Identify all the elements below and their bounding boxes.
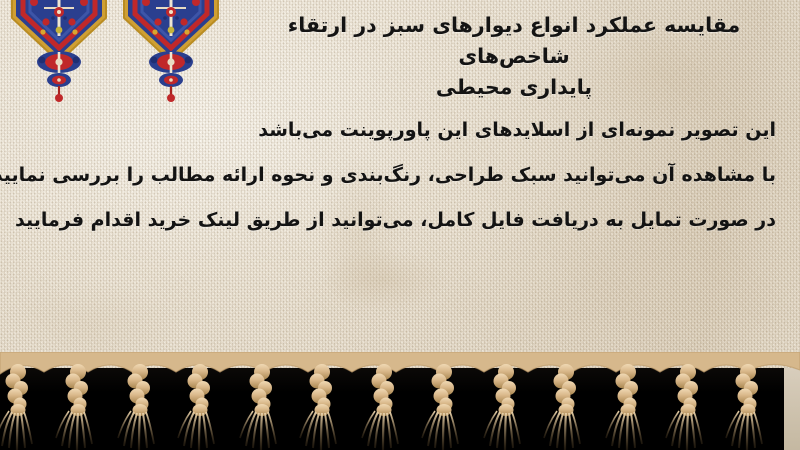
slide-body-line-1: این تصویر نمونه‌ای از اسلایدهای این پاور…: [116, 108, 776, 153]
bottom-black-band: [0, 368, 800, 450]
slide-body-line-3: در صورت تمایل به دریافت فایل کامل، می‌تو…: [116, 198, 776, 243]
slide-body-line-2: با مشاهده آن می‌توانید سبک طراحی، رنگ‌بن…: [116, 153, 776, 198]
slide-title: مقایسه عملکرد انواع دیوارهای سبز در ارتق…: [240, 10, 788, 103]
slide-title-line-1: مقایسه عملکرد انواع دیوارهای سبز در ارتق…: [240, 10, 788, 72]
slide-body: این تصویر نمونه‌ای از اسلایدهای این پاور…: [116, 108, 776, 243]
slide-title-line-2: پایداری محیطی: [240, 72, 788, 103]
slide-canvas: مقایسه عملکرد انواع دیوارهای سبز در ارتق…: [0, 0, 800, 450]
band-right-edge-highlight: [784, 368, 800, 450]
